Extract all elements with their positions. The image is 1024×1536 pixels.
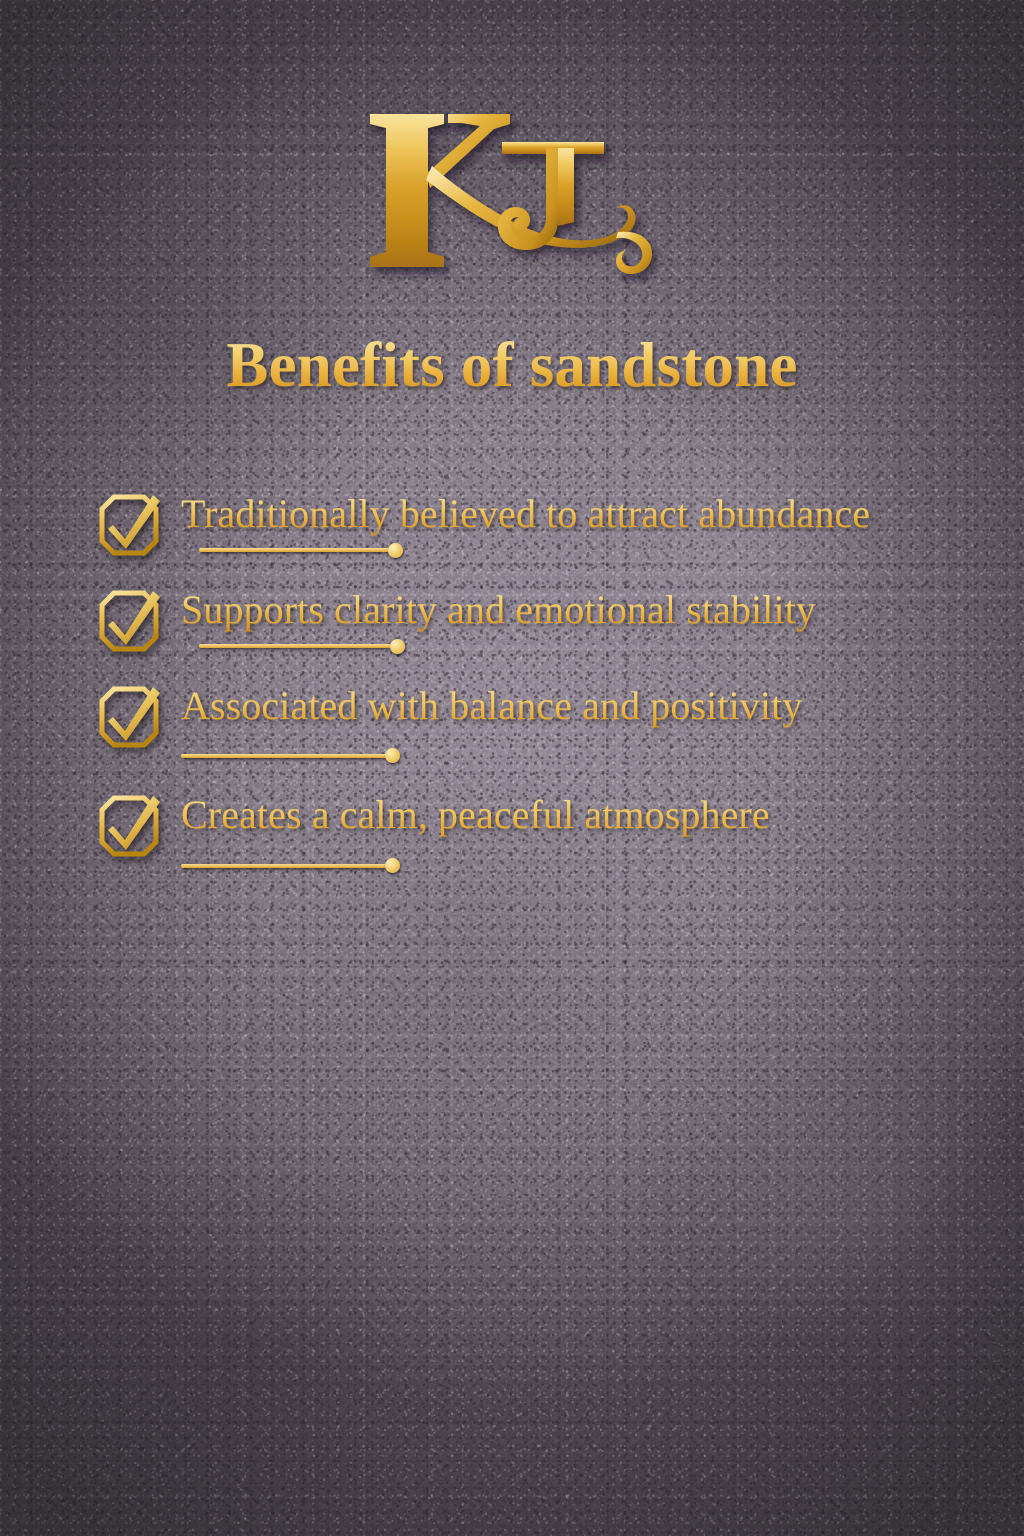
checkbox-checked-icon[interactable] (98, 588, 160, 654)
poster-canvas: KJ Benefits of sandstone Traditionally (0, 0, 1024, 1536)
checkbox-checked-icon[interactable] (98, 793, 160, 859)
connector-rule (181, 864, 386, 868)
checkbox-checked-icon[interactable] (98, 684, 160, 750)
connector-line (199, 543, 403, 558)
connector-dot (390, 639, 405, 654)
list-item-label: Supports clarity and emotional stability (181, 587, 816, 632)
list-item: Traditionally believed to attract abunda… (98, 486, 978, 564)
list-item-body: Traditionally believed to attract abunda… (160, 486, 978, 564)
checkbox-checked-icon[interactable] (98, 492, 160, 558)
list-item: Supports clarity and emotional stability (98, 582, 978, 660)
connector-dot (385, 858, 400, 873)
connector-line (181, 748, 978, 763)
connector-dot (385, 748, 400, 763)
kj-monogram-icon (352, 104, 672, 284)
connector-line (199, 639, 405, 654)
list-item: Associated with balance and positivity (98, 678, 978, 770)
list-item: Creates a calm, peaceful atmosphere (98, 787, 978, 879)
list-item-label: Associated with balance and positivity (181, 678, 978, 735)
connector-dot (388, 543, 403, 558)
page-title: Benefits of sandstone (0, 332, 1024, 398)
list-item-body: Associated with balance and positivity (160, 678, 978, 770)
list-item-label: Traditionally believed to attract abunda… (181, 491, 870, 536)
benefits-list: Traditionally believed to attract abunda… (98, 486, 978, 897)
list-item-label: Creates a calm, peaceful atmosphere (181, 787, 978, 844)
brand-logo: KJ (0, 104, 1024, 284)
connector-rule (199, 548, 389, 552)
connector-rule (181, 754, 386, 758)
list-item-body: Supports clarity and emotional stability (160, 582, 978, 660)
list-item-body: Creates a calm, peaceful atmosphere (160, 787, 978, 879)
connector-rule (199, 644, 391, 648)
connector-line (181, 858, 978, 873)
